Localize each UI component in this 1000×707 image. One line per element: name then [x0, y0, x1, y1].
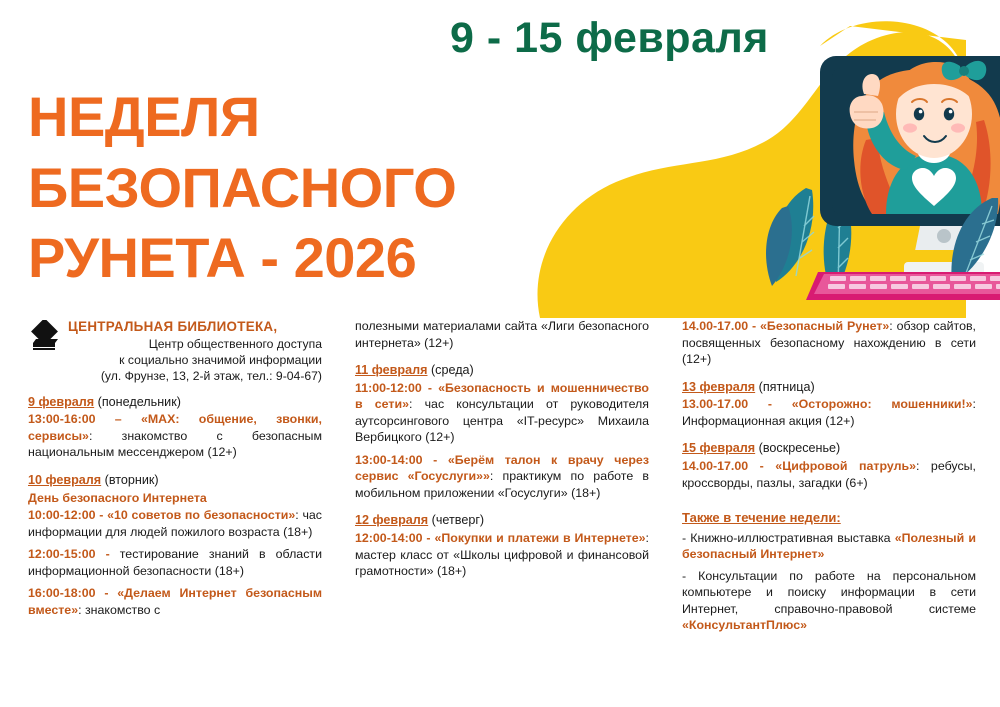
- day-block: 9 февраля (понедельник) 13:00-16:00 – «M…: [28, 394, 322, 461]
- day-heading: 10 февраля (вторник): [28, 472, 322, 489]
- event-item: 13:00-14:00 - «Берём талон к врачу через…: [355, 452, 649, 502]
- schedule-column-1: ЦЕНТРАЛЬНАЯ БИБЛИОТЕКА, Центр общественн…: [28, 318, 322, 629]
- event-item: 12:00-15:00 - тестирование знаний в обла…: [28, 546, 322, 579]
- day-date: 10 февраля: [28, 473, 101, 487]
- event-item: 12:00-14:00 - «Покупки и платежи в Интер…: [355, 530, 649, 580]
- day-weekday: (вторник): [105, 473, 159, 487]
- library-header: ЦЕНТРАЛЬНАЯ БИБЛИОТЕКА, Центр общественн…: [28, 318, 322, 385]
- day-block: 13 февраля (пятница) 13.00-17.00 - «Осто…: [682, 379, 976, 430]
- day-date: 11 февраля: [355, 363, 427, 377]
- also-list-item: - Консультации по работе на персональном…: [682, 568, 976, 634]
- event-item: 11:00-12:00 - «Безопасность и мошенничес…: [355, 380, 649, 446]
- day-heading: 11 февраля (среда): [355, 362, 649, 379]
- day-heading: 15 февраля (воскресенье): [682, 440, 976, 457]
- poster-hero: 9 - 15 февраля НЕДЕЛЯ БЕЗОПАСНОГО РУНЕТА…: [0, 0, 1000, 318]
- black-diamond-book-logo-icon: [28, 320, 62, 354]
- title-line-1: НЕДЕЛЯ: [28, 82, 528, 153]
- event-highlight: 14.00-17.00 - «Безопасный Рунет»: [682, 319, 889, 333]
- event-item: 10:00-12:00 - «10 советов по безопасност…: [28, 507, 322, 540]
- event-highlight: 12:00-14:00 - «Покупки и платежи в Интер…: [355, 531, 646, 545]
- day-weekday: (четверг): [432, 513, 484, 527]
- day-weekday: (пятница): [759, 380, 815, 394]
- also-during-week-section: Также в течение недели: - Книжно-иллюстр…: [682, 509, 976, 633]
- spacer: [682, 502, 976, 509]
- day-date: 13 февраля: [682, 380, 755, 394]
- also-highlight: «КонсультантПлюс»: [682, 618, 807, 632]
- day-weekday: (понедельник): [98, 395, 181, 409]
- event-item: 13:00-16:00 – «MAX: общение, звонки, сер…: [28, 411, 322, 461]
- event-item: 16:00-18:00 - «Делаем Интернет безопасны…: [28, 585, 322, 618]
- event-highlight: 16:00-18:00 - «Делаем Интернет безопасны…: [28, 586, 322, 617]
- continuation-paragraph: полезными материалами сайта «Лиги безопа…: [355, 318, 649, 351]
- event-highlight: 14.00-17.00 - «Цифровой патруль»: [682, 459, 916, 473]
- day-heading: 12 февраля (четверг): [355, 512, 649, 529]
- event-item: 13.00-17.00 - «Осторожно: мошенники!»: И…: [682, 396, 976, 429]
- keyboard: [806, 272, 1000, 300]
- also-prefix: - Книжно-иллюстративная выставка: [682, 531, 895, 545]
- library-sub-line-2: к социально значимой информации: [28, 353, 322, 369]
- event-highlight: 12:00-15:00 -: [28, 547, 110, 561]
- event-item: 14.00-17.00 - «Цифровой патруль»: ребусы…: [682, 458, 976, 491]
- day-block: 11 февраля (среда) 11:00-12:00 - «Безопа…: [355, 362, 649, 501]
- day-subtitle: День безопасного Интернета: [28, 490, 322, 507]
- day-date: 9 февраля: [28, 395, 94, 409]
- day-date: 12 февраля: [355, 513, 428, 527]
- day-weekday: (воскресенье): [759, 441, 841, 455]
- library-name: ЦЕНТРАЛЬНАЯ БИБЛИОТЕКА,: [68, 318, 322, 336]
- day-date: 15 февраля: [682, 441, 755, 455]
- title-line-2: БЕЗОПАСНОГО: [28, 153, 528, 224]
- schedule-column-3: 14.00-17.00 - «Безопасный Рунет»: обзор …: [682, 318, 976, 639]
- day-block: 12 февраля (четверг) 12:00-14:00 - «Поку…: [355, 512, 649, 579]
- event-highlight: 10:00-12:00 - «10 советов по безопасност…: [28, 508, 295, 522]
- date-range: 9 - 15 февраля: [450, 14, 800, 63]
- title-line-3: РУНЕТА - 2026: [28, 223, 528, 294]
- event-highlight: 13.00-17.00 - «Осторожно: мошенники!»: [682, 397, 973, 411]
- page-title: НЕДЕЛЯ БЕЗОПАСНОГО РУНЕТА - 2026: [28, 82, 528, 294]
- event-rest: : знакомство с: [78, 603, 160, 617]
- also-heading: Также в течение недели:: [682, 509, 976, 526]
- also-prefix: - Консультации по работе на персональном…: [682, 569, 976, 616]
- library-sub-line-1: Центр общественного доступа: [28, 337, 322, 353]
- day-weekday: (среда): [431, 363, 474, 377]
- also-list-item: - Книжно-иллюстративная выставка «Полезн…: [682, 530, 976, 563]
- day-heading: 13 февраля (пятница): [682, 379, 976, 396]
- schedule-content: ЦЕНТРАЛЬНАЯ БИБЛИОТЕКА, Центр общественн…: [0, 318, 1000, 707]
- schedule-column-2: полезными материалами сайта «Лиги безопа…: [355, 318, 649, 591]
- continuation-paragraph: 14.00-17.00 - «Безопасный Рунет»: обзор …: [682, 318, 976, 368]
- day-block: 10 февраля (вторник) День безопасного Ин…: [28, 472, 322, 618]
- day-block: 15 февраля (воскресенье) 14.00-17.00 - «…: [682, 440, 976, 491]
- day-heading: 9 февраля (понедельник): [28, 394, 322, 411]
- library-address: (ул. Фрунзе, 13, 2-й этаж, тел.: 9-04-67…: [28, 369, 322, 385]
